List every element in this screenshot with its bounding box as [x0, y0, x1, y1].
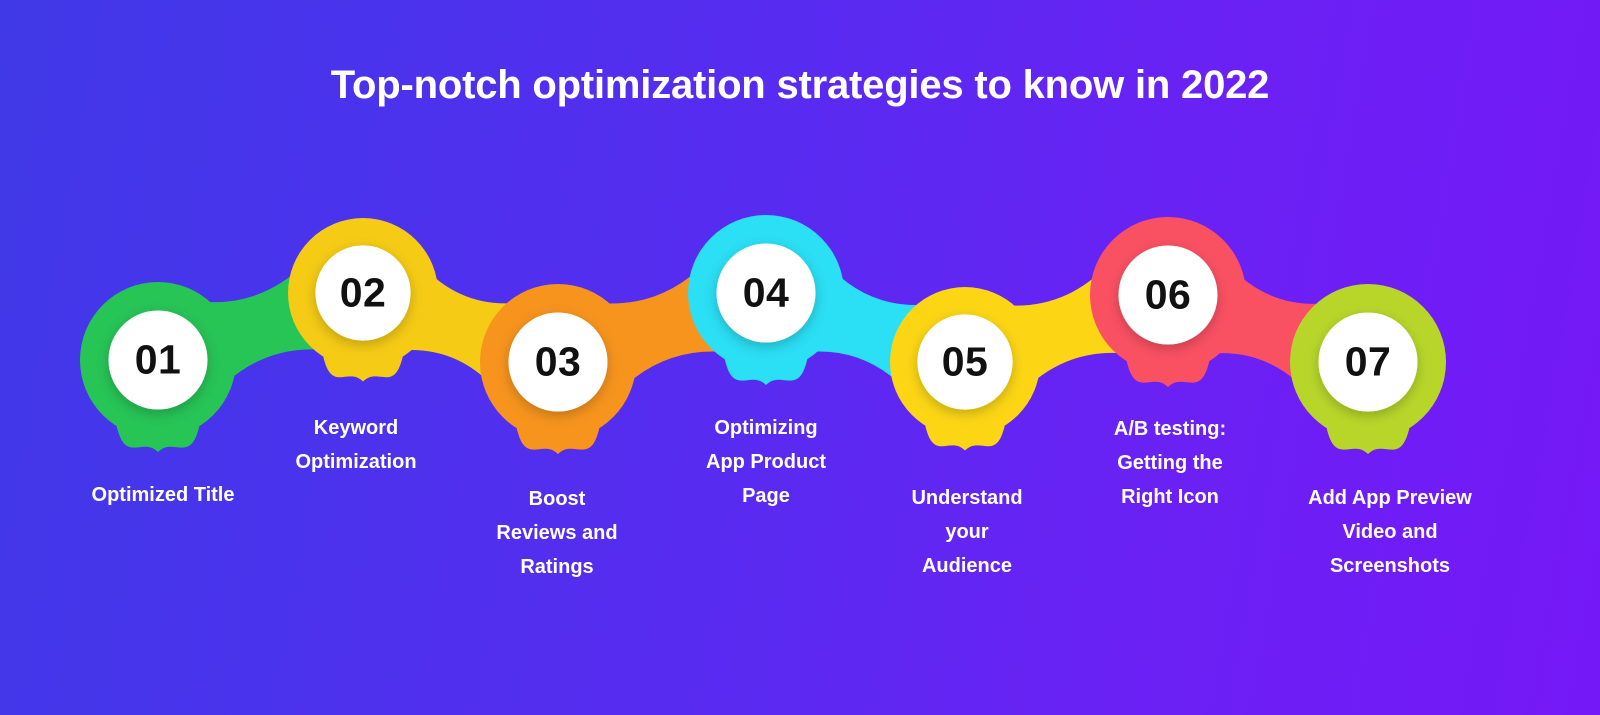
pin-inner-circle-05 [917, 314, 1012, 409]
infographic-canvas: Top-notch optimization strategies to kno… [0, 0, 1600, 715]
pin-inner-circle-02 [315, 245, 410, 340]
pin-label-01: Optimized Title [92, 478, 235, 512]
pin-inner-circle-07 [1318, 312, 1417, 411]
pin-inner-circle-03 [508, 312, 607, 411]
pin-label-02: Keyword Optimization [295, 411, 416, 479]
pin-label-06: A/B testing: Getting the Right Icon [1114, 412, 1226, 514]
pin-inner-circle-04 [716, 243, 815, 342]
pin-label-03: Boost Reviews and Ratings [496, 482, 617, 584]
pin-label-07: Add App Preview Video and Screenshots [1308, 481, 1472, 583]
pin-label-04: Optimizing App Product Page [706, 411, 826, 513]
pin-inner-circle-01 [108, 310, 207, 409]
pin-inner-circle-06 [1118, 245, 1217, 344]
process-diagram [0, 0, 1600, 715]
pin-label-05: Understand your Audience [911, 481, 1022, 583]
